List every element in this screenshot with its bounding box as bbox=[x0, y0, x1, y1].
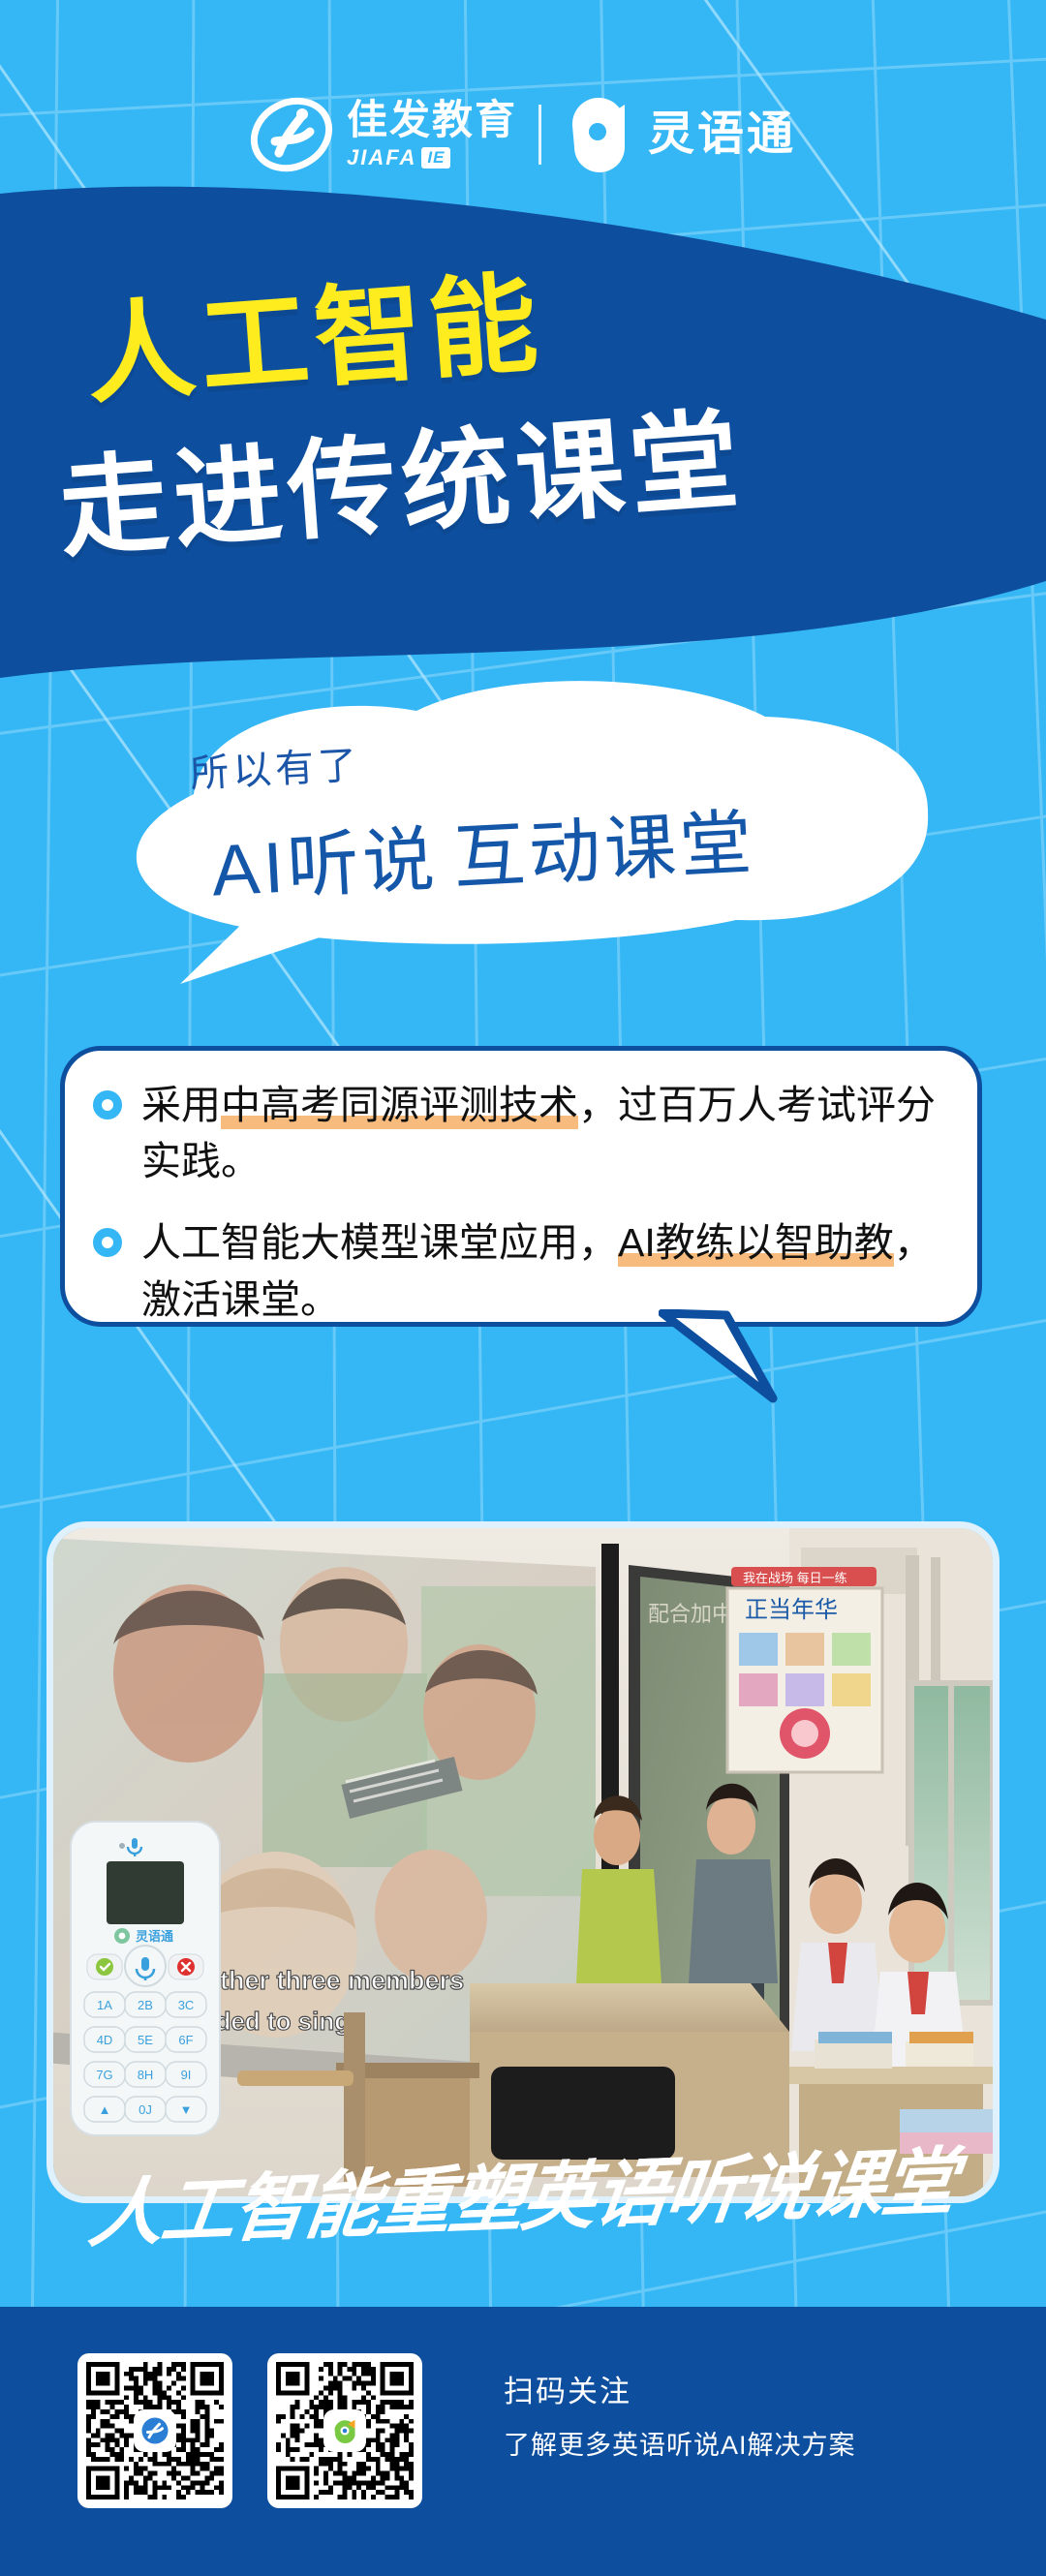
slogan-banner: 人工智能重塑英语听说课堂 bbox=[0, 2138, 1046, 2245]
jiafa-swirl-logo-icon bbox=[140, 2416, 169, 2445]
lingyutong-bird-logo-icon bbox=[330, 2416, 359, 2445]
feature-1-pre: 采用 bbox=[141, 1083, 221, 1127]
feature-text-1: 采用中高考同源评测技术，过百万人考试评分实践。 bbox=[141, 1077, 965, 1189]
qr-code-lingyutong[interactable] bbox=[267, 2353, 422, 2508]
device-key-label: 5E bbox=[138, 2033, 153, 2047]
footer-line-1: 扫码关注 bbox=[504, 2367, 856, 2410]
headline-group: 人工智能 走进传统课堂 bbox=[0, 232, 1046, 649]
feature-1-highlight: 中高考同源评测技术 bbox=[221, 1083, 578, 1129]
poster-title-text: 正当年华 bbox=[745, 1597, 838, 1623]
slogan-text: 人工智能重塑英语听说课堂 bbox=[84, 2122, 962, 2261]
qr-code-jiafa[interactable] bbox=[77, 2353, 232, 2508]
device-key-label: 4D bbox=[97, 2033, 113, 2047]
device-brand: 灵语通 bbox=[114, 1928, 173, 1944]
bubble-big-part-1: AI听说 bbox=[210, 819, 441, 911]
lingyutong-name: 灵语通 bbox=[648, 111, 796, 158]
device-key-label: 9I bbox=[181, 2068, 192, 2082]
jiafa-name-en: JIAFA bbox=[347, 145, 416, 170]
lingyutong-bird-logo-icon bbox=[563, 97, 634, 172]
device-key-label: 2B bbox=[138, 1998, 153, 2012]
qr-logo-jiafa bbox=[136, 2411, 174, 2450]
device-key-label: 7G bbox=[96, 2068, 112, 2082]
footer-line-2: 了解更多英语听说AI解决方案 bbox=[504, 2424, 856, 2462]
device-screen bbox=[107, 1861, 184, 1924]
list-item: 人工智能大模型课堂应用，AI教练以智助教，激活课堂。 bbox=[93, 1214, 965, 1327]
device-led-icon bbox=[119, 1843, 125, 1849]
mic-button[interactable] bbox=[125, 1946, 166, 1986]
jiafa-swirl-logo-icon bbox=[250, 93, 333, 176]
cancel-button[interactable] bbox=[169, 1954, 203, 1979]
device-key-label: 3C bbox=[178, 1998, 195, 2012]
features-list: 采用中高考同源评测技术，过百万人考试评分实践。 人工智能大模型课堂应用，AI教练… bbox=[93, 1077, 965, 1353]
device-key-label: 6F bbox=[178, 2033, 193, 2047]
svg-text:灵语通: 灵语通 bbox=[136, 1929, 173, 1944]
device-key-label: 1A bbox=[97, 1998, 112, 2012]
feature-2-pre: 人工智能大模型课堂应用， bbox=[141, 1220, 618, 1265]
device-key-label: ▲ bbox=[99, 2102, 111, 2117]
brand-divider bbox=[538, 105, 541, 165]
poster-header-text: 我在战场 每日一练 bbox=[743, 1571, 847, 1585]
feature-2-highlight: AI教练以智助教 bbox=[618, 1220, 894, 1267]
device-key-label: 0J bbox=[138, 2102, 152, 2117]
bubble-big-part-2: 互动课堂 bbox=[451, 802, 757, 898]
jiafa-name-cn: 佳发教育 bbox=[347, 100, 517, 140]
brand-header: 佳发教育 JIAFA IE 灵语通 bbox=[0, 81, 1046, 188]
device-key-label: ▼ bbox=[180, 2102, 193, 2117]
list-item: 采用中高考同源评测技术，过百万人考试评分实践。 bbox=[93, 1077, 965, 1189]
footer-bar: 扫码关注 了解更多英语听说AI解决方案 bbox=[0, 2307, 1046, 2576]
confirm-button[interactable] bbox=[87, 1954, 122, 1979]
bullet-dot-icon bbox=[93, 1090, 122, 1119]
qr-code-group bbox=[77, 2353, 422, 2508]
bubble-small-text: 所以有了 bbox=[189, 733, 362, 798]
lingyutong-logo-group: 灵语通 bbox=[563, 97, 796, 172]
lingyutong-device[interactable]: 灵语通 1A2B3C4D5E6F7G8H9I▲0J▼ bbox=[68, 1819, 223, 2138]
bullet-dot-icon bbox=[93, 1228, 122, 1257]
jiafa-logo-group: 佳发教育 JIAFA IE bbox=[250, 93, 517, 176]
footer-text-block: 扫码关注 了解更多英语听说AI解决方案 bbox=[504, 2367, 856, 2462]
qr-logo-lingyutong bbox=[325, 2411, 364, 2450]
feature-text-2: 人工智能大模型课堂应用，AI教练以智助教，激活课堂。 bbox=[141, 1214, 965, 1327]
device-key-label: 8H bbox=[138, 2068, 154, 2082]
jiafa-name-en-badge: IE bbox=[421, 147, 450, 169]
